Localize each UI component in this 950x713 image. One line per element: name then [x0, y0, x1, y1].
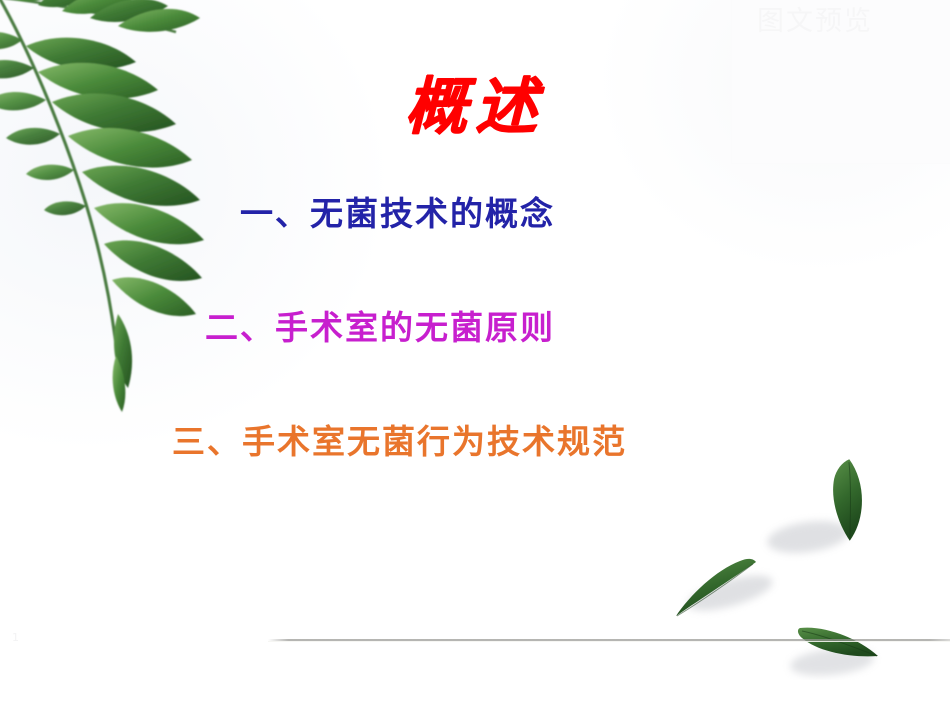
watermark-text: 图文预览 — [757, 4, 947, 40]
page-number: 1 — [12, 631, 19, 644]
outline-item-1: 一、无菌技术的概念 — [240, 194, 555, 234]
baseline-rule — [268, 639, 950, 641]
leaf-cluster-decoration — [640, 440, 950, 680]
leaf-middle-left — [676, 559, 776, 618]
outline-item-2: 二、手术室的无菌原则 — [205, 308, 555, 348]
slide-canvas: 图文预览 — [0, 0, 950, 713]
page-title: 概述 — [0, 74, 950, 141]
fern-frond-decoration — [0, 0, 236, 454]
leaf-upper-right — [765, 458, 866, 558]
leaf-lower-center — [789, 628, 878, 680]
outline-item-3: 三、手术室无菌行为技术规范 — [172, 422, 627, 462]
